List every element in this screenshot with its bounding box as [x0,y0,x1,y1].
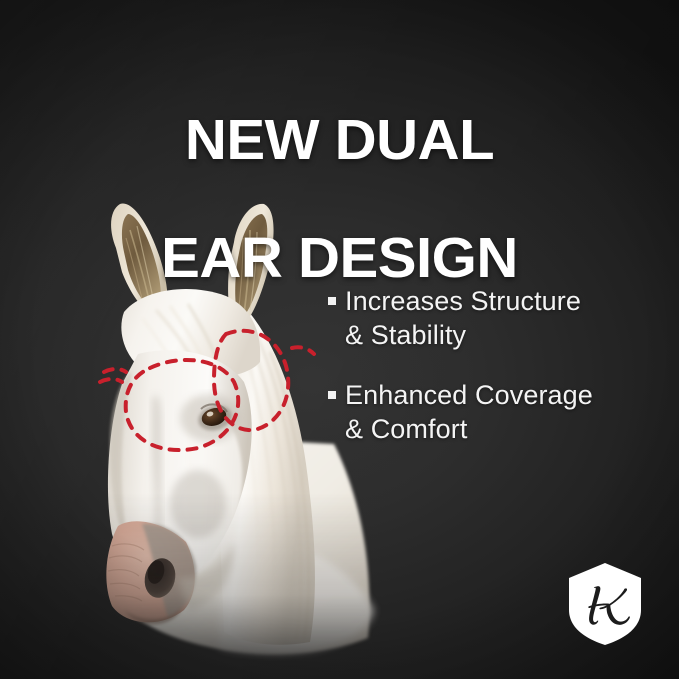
list-item-label: Enhanced Coverage & Comfort [345,378,593,446]
promo-graphic: NEW DUAL EAR DESIGN Increases Structure … [0,0,679,679]
shield-k-logo [566,562,644,646]
list-item: Increases Structure & Stability [328,284,648,352]
list-item: Enhanced Coverage & Comfort [328,378,648,446]
feature-list: Increases Structure & Stability Enhanced… [328,284,648,472]
square-bullet-icon [328,391,336,399]
headline-line-1: NEW DUAL [0,111,679,170]
square-bullet-icon [328,297,336,305]
headline-line-2: EAR DESIGN [0,229,679,288]
list-item-label: Increases Structure & Stability [345,284,581,352]
